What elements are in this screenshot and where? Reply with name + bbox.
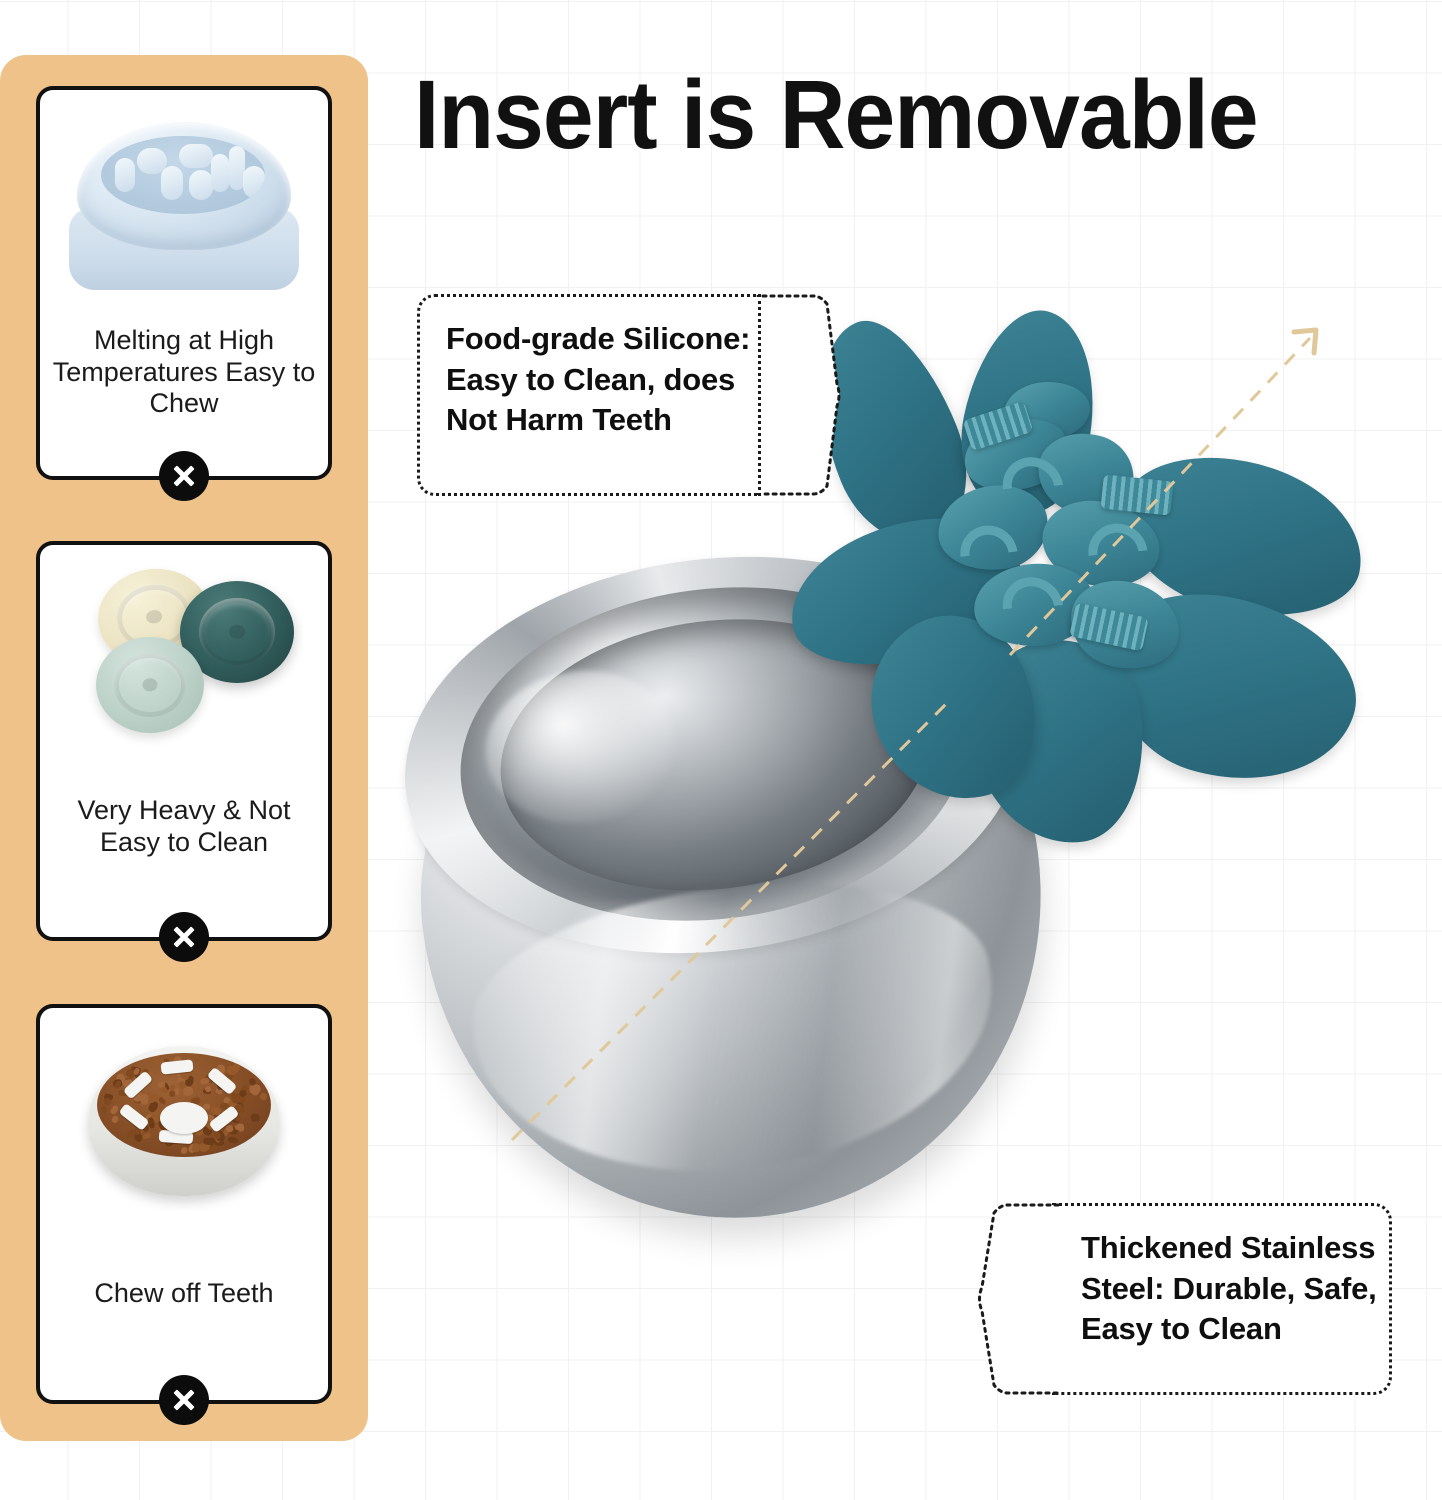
drawback-caption: Chew off Teeth xyxy=(52,1278,316,1310)
drawback-card-melting[interactable]: Melting at High Temperatures Easy to Che… xyxy=(36,86,332,480)
light-blue-plastic-slow-feeder-bowl-art xyxy=(40,90,328,310)
drawbacks-rail: Melting at High Temperatures Easy to Che… xyxy=(0,55,368,1441)
callout-pointer-right-icon xyxy=(761,294,839,496)
drawback-caption: Very Heavy & Not Easy to Clean xyxy=(52,795,316,858)
callout-thickened-stainless-steel[interactable]: Thickened Stainless Steel: Durable, Safe… xyxy=(1052,1203,1392,1395)
callout-pointer-left-icon xyxy=(974,1203,1058,1395)
x-mark-icon xyxy=(159,1375,209,1425)
kibble-bowl-with-bone-dividers-art xyxy=(40,1008,328,1228)
drawback-card-heavy[interactable]: Very Heavy & Not Easy to Clean xyxy=(36,541,332,941)
teal-silicone-insert xyxy=(788,310,1376,850)
drawback-caption: Melting at High Temperatures Easy to Che… xyxy=(52,325,316,420)
three-ceramic-slow-feeder-bowls-art xyxy=(40,545,328,765)
x-mark-icon xyxy=(159,451,209,501)
callout-text: Food-grade Silicone: Easy to Clean, does… xyxy=(446,321,750,437)
x-mark-icon xyxy=(159,912,209,962)
callout-text: Thickened Stainless Steel: Durable, Safe… xyxy=(1081,1230,1377,1346)
drawback-card-chew-teeth[interactable]: Chew off Teeth xyxy=(36,1004,332,1404)
callout-food-grade-silicone[interactable]: Food-grade Silicone: Easy to Clean, does… xyxy=(417,294,761,496)
